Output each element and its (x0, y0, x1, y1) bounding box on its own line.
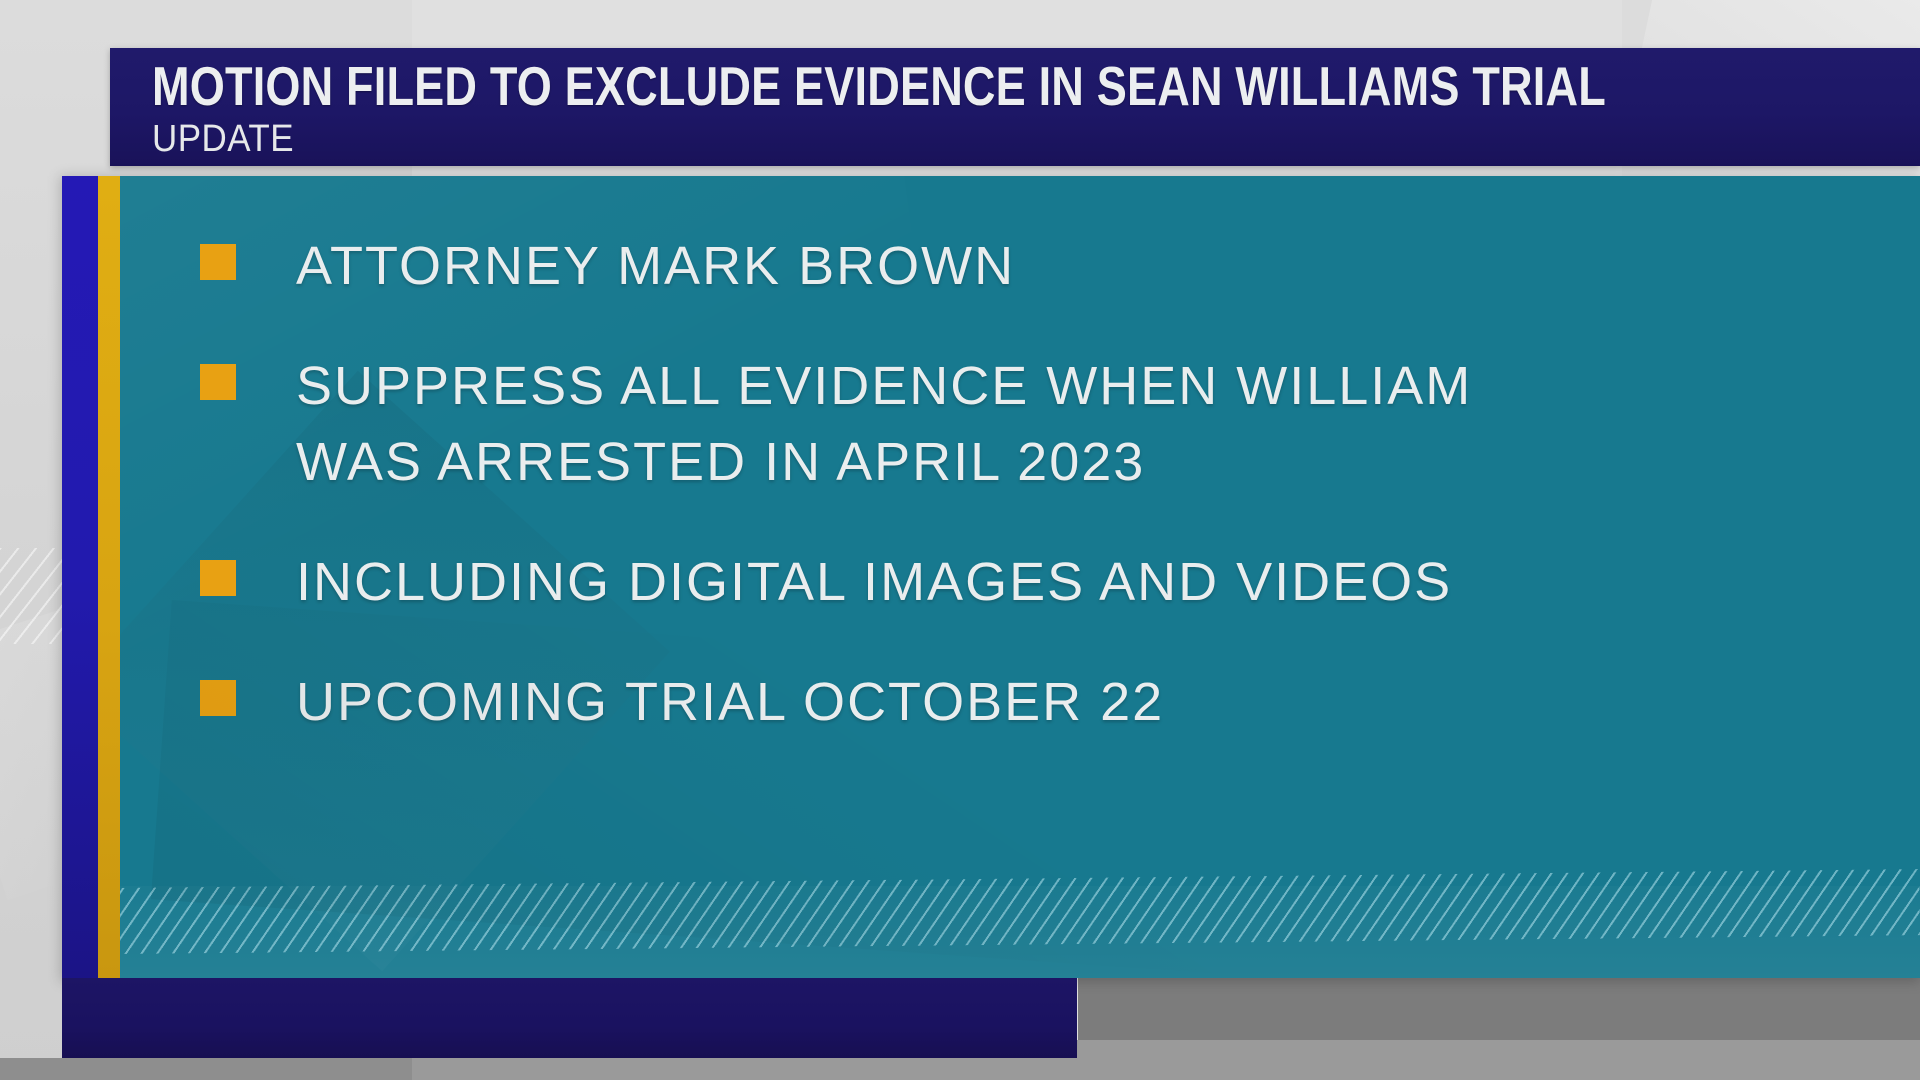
content-card-blue-accent-bar (62, 176, 98, 978)
bullet-list: ATTORNEY MARK BROWNSUPPRESS ALL EVIDENCE… (200, 228, 1860, 784)
bullet-text: UPCOMING TRIAL OCTOBER 22 (296, 664, 1164, 740)
orange-square-bullet-icon (200, 244, 236, 280)
broadcast-graphic-stage: MOTION FILED TO EXCLUDE EVIDENCE IN SEAN… (0, 0, 1920, 1080)
bullet-text: INCLUDING DIGITAL IMAGES AND VIDEOS (296, 544, 1452, 620)
content-card-body: ATTORNEY MARK BROWNSUPPRESS ALL EVIDENCE… (120, 176, 1920, 978)
bullet-item: SUPPRESS ALL EVIDENCE WHEN WILLIAM WAS A… (200, 348, 1860, 500)
orange-square-bullet-icon (200, 560, 236, 596)
footer-navy-bar (62, 978, 1077, 1058)
orange-square-bullet-icon (200, 364, 236, 400)
headline-banner: MOTION FILED TO EXCLUDE EVIDENCE IN SEAN… (110, 48, 1920, 166)
bullet-item: ATTORNEY MARK BROWN (200, 228, 1860, 304)
headline-title: MOTION FILED TO EXCLUDE EVIDENCE IN SEAN… (152, 56, 1606, 116)
content-card-gold-accent-bar (98, 176, 120, 978)
orange-square-bullet-icon (200, 680, 236, 716)
bullet-item: INCLUDING DIGITAL IMAGES AND VIDEOS (200, 544, 1860, 620)
bullet-item: UPCOMING TRIAL OCTOBER 22 (200, 664, 1860, 740)
bullet-text: ATTORNEY MARK BROWN (296, 228, 1015, 304)
headline-subtitle: UPDATE (152, 118, 294, 160)
bullet-text: SUPPRESS ALL EVIDENCE WHEN WILLIAM WAS A… (296, 348, 1472, 500)
